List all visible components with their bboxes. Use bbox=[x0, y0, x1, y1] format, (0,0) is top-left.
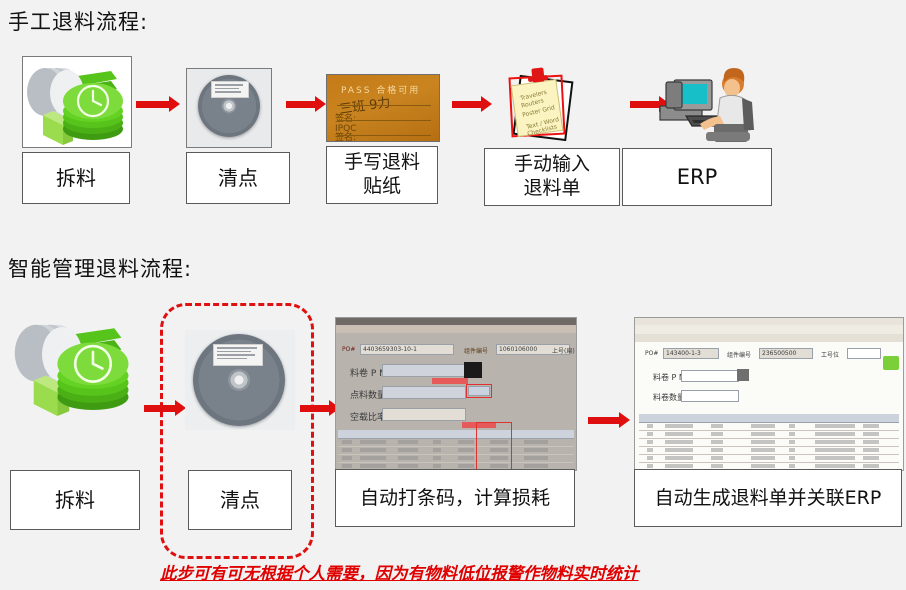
step-label-line-2: 退料单 bbox=[523, 177, 580, 201]
table-row[interactable] bbox=[338, 455, 574, 463]
table-row[interactable] bbox=[639, 439, 899, 447]
field-label-worker-no: 工号位 bbox=[821, 350, 839, 359]
erp-data-grid[interactable] bbox=[639, 414, 899, 471]
auto-print-button-callout[interactable] bbox=[466, 384, 492, 398]
step-image-unpack-smart bbox=[10, 310, 138, 420]
table-row[interactable] bbox=[639, 423, 899, 431]
step-image-manual-entry: Travelers Routers Poster Grid Text / Wor… bbox=[496, 62, 582, 146]
field-value-po-text: 4403659303-10-1 bbox=[363, 346, 417, 353]
step-label-manual-entry: 手动输入 退料单 bbox=[484, 148, 620, 206]
app-toolbar[interactable] bbox=[336, 325, 576, 333]
sticker-ipqc-sign-label: 签名: bbox=[335, 130, 356, 142]
table-row[interactable] bbox=[639, 455, 899, 463]
field-value-reel-qty[interactable] bbox=[681, 390, 739, 402]
section-title-manual: 手工退料流程: bbox=[8, 6, 148, 36]
field-value-assembly-text: 236500500 bbox=[762, 350, 796, 357]
field-label-reel-pn: 料卷 P N bbox=[350, 366, 386, 379]
flow-arrow-1 bbox=[136, 96, 180, 112]
field-label-po: PO# bbox=[645, 350, 658, 357]
scan-indicator-block bbox=[737, 369, 749, 381]
step-image-erp bbox=[648, 58, 768, 148]
result-data-grid[interactable] bbox=[338, 430, 574, 471]
field-value-assembly-text: 1060106000 bbox=[499, 346, 537, 353]
field-value-reel-pn[interactable] bbox=[681, 370, 739, 382]
field-label-worker: 上号(扁) bbox=[552, 346, 575, 355]
step-label-line-1: 手动输入 bbox=[514, 153, 590, 177]
table-row[interactable] bbox=[639, 431, 899, 439]
field-label-idle-rate: 空载比率 bbox=[350, 410, 386, 423]
step-image-count-smart bbox=[185, 330, 295, 430]
step-label-line-2: 贴纸 bbox=[363, 175, 401, 199]
step-label-auto-barcode: 自动打条码，计算损耗 bbox=[335, 469, 575, 527]
field-value-reel-pn[interactable] bbox=[382, 364, 466, 377]
data-grid-header bbox=[639, 414, 899, 423]
field-label-count-qty: 点料数量 bbox=[350, 388, 386, 401]
step-label-unpack-smart: 拆料 bbox=[10, 470, 140, 530]
flow-arrow-6 bbox=[300, 400, 340, 416]
step-image-unpack-manual bbox=[22, 56, 132, 148]
flow-arrow-7 bbox=[588, 412, 630, 428]
component-reel-photo bbox=[185, 330, 295, 430]
green-database-clock-icon bbox=[10, 310, 138, 420]
step-image-handwrite-sticker: PASS 合格可用 三班 9力 签名: IPQC 签名: bbox=[326, 74, 440, 142]
step-label-count-smart: 清点 bbox=[188, 470, 292, 530]
step-label-text: 自动打条码，计算损耗 bbox=[360, 486, 550, 511]
app-tab-bar[interactable] bbox=[635, 334, 903, 342]
step-label-auto-return-form: 自动生成退料单并关联ERP bbox=[634, 469, 902, 527]
step-label-unpack-manual: 拆料 bbox=[22, 152, 130, 204]
barcode-preview-block bbox=[464, 362, 482, 378]
step-label-handwrite-sticker: 手写退料 贴纸 bbox=[326, 146, 438, 204]
section-title-smart: 智能管理退料流程: bbox=[8, 253, 192, 283]
app-menu-bar[interactable] bbox=[336, 318, 576, 325]
field-value-idle-rate[interactable] bbox=[382, 408, 466, 421]
flow-arrow-2 bbox=[286, 96, 326, 112]
table-row[interactable] bbox=[338, 447, 574, 455]
barcode-software-screenshot: PO# 4403659303-10-1 组件编号 1060106000 上号(扁… bbox=[335, 317, 577, 471]
table-row[interactable] bbox=[338, 439, 574, 447]
data-grid-header bbox=[338, 430, 574, 439]
step-label-erp: ERP bbox=[622, 148, 772, 206]
step-image-count-manual bbox=[186, 68, 272, 148]
slide-canvas: 手工退料流程: bbox=[0, 0, 906, 590]
barcode-tag-callout bbox=[432, 378, 468, 384]
field-label-po: PO# bbox=[342, 346, 355, 353]
component-reel-photo bbox=[187, 69, 271, 147]
clipboard-icon: Travelers Routers Poster Grid Text / Wor… bbox=[496, 62, 582, 146]
reel-label bbox=[211, 81, 249, 98]
loss-column-callout bbox=[476, 422, 512, 471]
green-status-icon bbox=[883, 356, 899, 370]
field-value-po-text: 143400-1-3 bbox=[666, 350, 701, 357]
orange-pass-sticker-photo: PASS 合格可用 三班 9力 签名: IPQC 签名: bbox=[327, 75, 439, 141]
reel-label bbox=[213, 344, 263, 366]
erp-software-screenshot: PO# 143400-1-3 组件编号 236500500 工号位 料卷 P N… bbox=[634, 317, 904, 471]
flow-arrow-3 bbox=[452, 96, 492, 112]
step-label-text: 自动生成退料单并关联ERP bbox=[655, 486, 882, 511]
field-label-assembly: 组件编号 bbox=[464, 346, 488, 355]
step-label-count-manual: 清点 bbox=[186, 152, 290, 204]
green-database-clock-icon bbox=[23, 57, 131, 147]
field-value-count-qty[interactable] bbox=[382, 386, 466, 399]
step-label-line-1: 手写退料 bbox=[344, 151, 420, 175]
table-row[interactable] bbox=[639, 447, 899, 455]
person-at-computer-clipart bbox=[648, 58, 768, 148]
field-value-worker-no[interactable] bbox=[847, 348, 881, 359]
field-label-assembly: 组件编号 bbox=[727, 350, 751, 359]
sticker-sign-label: 签名: bbox=[335, 111, 356, 124]
footnote-text: 此步可有可无根据个人需要，因为有物料低位报警作物料实时统计 bbox=[160, 560, 639, 584]
